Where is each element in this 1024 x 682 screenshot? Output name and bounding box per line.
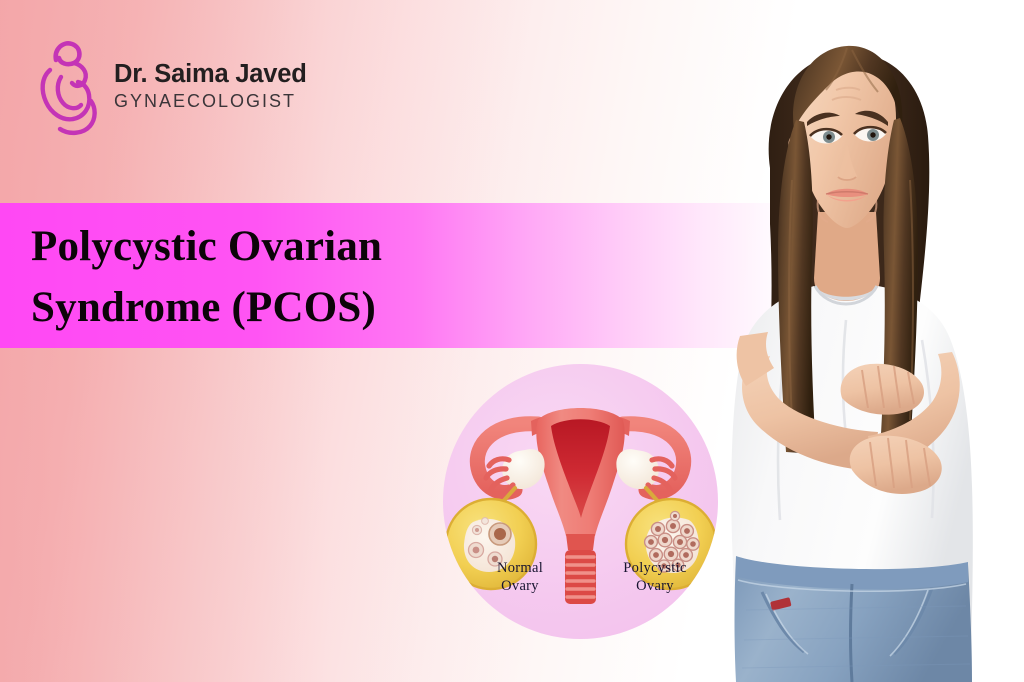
page-title-line-1: Polycystic Ovarian <box>31 216 671 277</box>
page-title-line-2: Syndrome (PCOS) <box>31 277 671 338</box>
page-title: Polycystic Ovarian Syndrome (PCOS) <box>31 216 671 338</box>
brand-logo-block[interactable]: Dr. Saima Javed GYNAECOLOGIST <box>34 32 334 140</box>
brand-specialty: GYNAECOLOGIST <box>114 88 307 115</box>
normal-ovary-label-line-1: Normal <box>455 559 585 577</box>
mother-and-child-line-icon <box>34 33 104 139</box>
woman-holding-abdomen-photo <box>666 0 1024 682</box>
normal-ovary-label-line-2: Ovary <box>455 577 585 595</box>
brand-name: Dr. Saima Javed <box>114 61 307 89</box>
normal-ovary-label: Normal Ovary <box>455 559 585 596</box>
pcos-banner: Dr. Saima Javed GYNAECOLOGIST Polycystic… <box>0 0 1024 682</box>
brand-text-group: Dr. Saima Javed GYNAECOLOGIST <box>114 57 307 116</box>
